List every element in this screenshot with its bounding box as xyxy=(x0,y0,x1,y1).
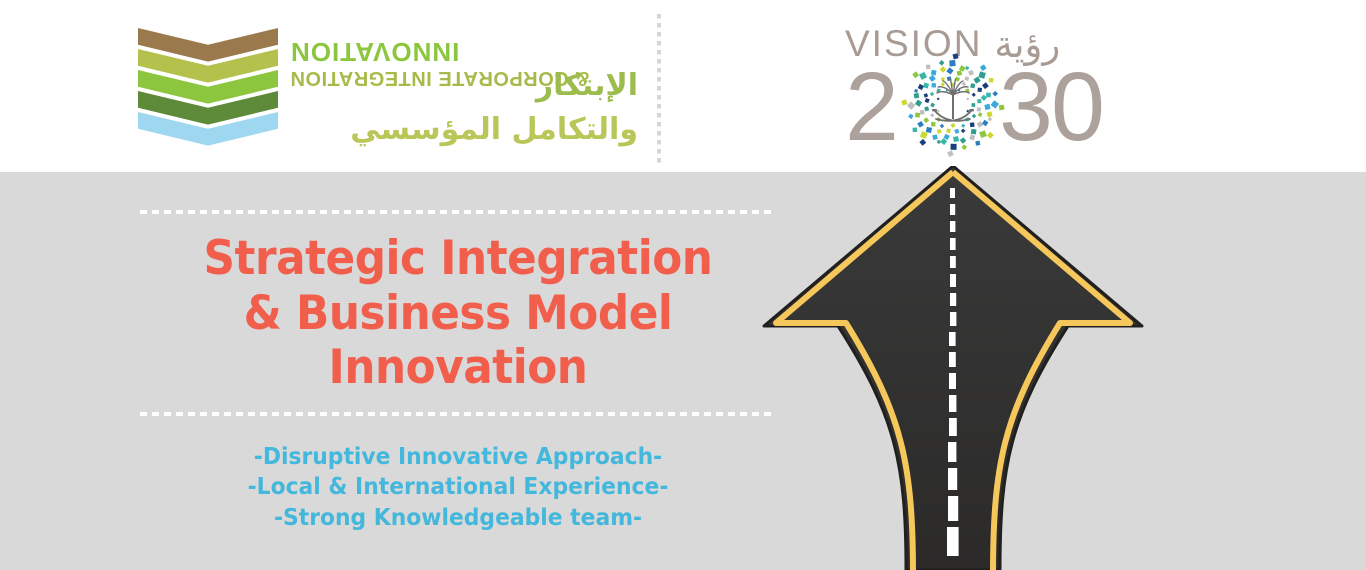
tagline-item-3: -Strong Knowledgeable team- xyxy=(156,503,760,534)
corporate-logo-arabic-line2: والتكامل المؤسسي xyxy=(350,112,638,147)
corporate-logo: & CORPORATE INTEGRATION INNOVATION الإبت… xyxy=(138,22,638,150)
tagline-item-2: -Local & International Experience- xyxy=(156,472,760,503)
page-title: Strategic Integration & Business Model I… xyxy=(162,232,753,396)
message-block: Strategic Integration & Business Model I… xyxy=(140,210,776,533)
vision-digit-30: 30 xyxy=(999,58,1103,155)
divider-dashed-bottom xyxy=(140,412,776,416)
page-title-line-1: Strategic Integration xyxy=(162,232,753,287)
corporate-logo-english-line2: INNOVATION xyxy=(290,37,459,67)
divider-dashed-top xyxy=(140,210,776,214)
corporate-logo-arabic: الإبتكار والتكامل المؤسسي xyxy=(290,64,638,151)
page-title-line-3: Innovation xyxy=(162,341,753,396)
saudi-emblem-icon xyxy=(898,50,1008,160)
tagline-list: -Disruptive Innovative Approach- -Local … xyxy=(156,442,760,534)
chevron-layer-5 xyxy=(138,112,278,152)
vision-year: 2 30 xyxy=(845,58,1145,158)
corporate-logo-text: & CORPORATE INTEGRATION INNOVATION الإبت… xyxy=(290,22,638,150)
corporate-logo-arabic-line1: الإبتكار xyxy=(536,68,638,103)
page-title-line-2: & Business Model xyxy=(162,287,753,342)
header-bar: & CORPORATE INTEGRATION INNOVATION الإبت… xyxy=(0,0,1366,172)
chevron-stack-icon xyxy=(138,28,278,143)
vision-2030-logo: VISION رؤية 2 30 xyxy=(845,22,1145,162)
banner-root: & CORPORATE INTEGRATION INNOVATION الإبت… xyxy=(0,0,1366,570)
header-dotted-divider xyxy=(657,14,661,164)
vision-digit-2: 2 xyxy=(845,58,897,155)
tagline-item-1: -Disruptive Innovative Approach- xyxy=(156,442,760,473)
